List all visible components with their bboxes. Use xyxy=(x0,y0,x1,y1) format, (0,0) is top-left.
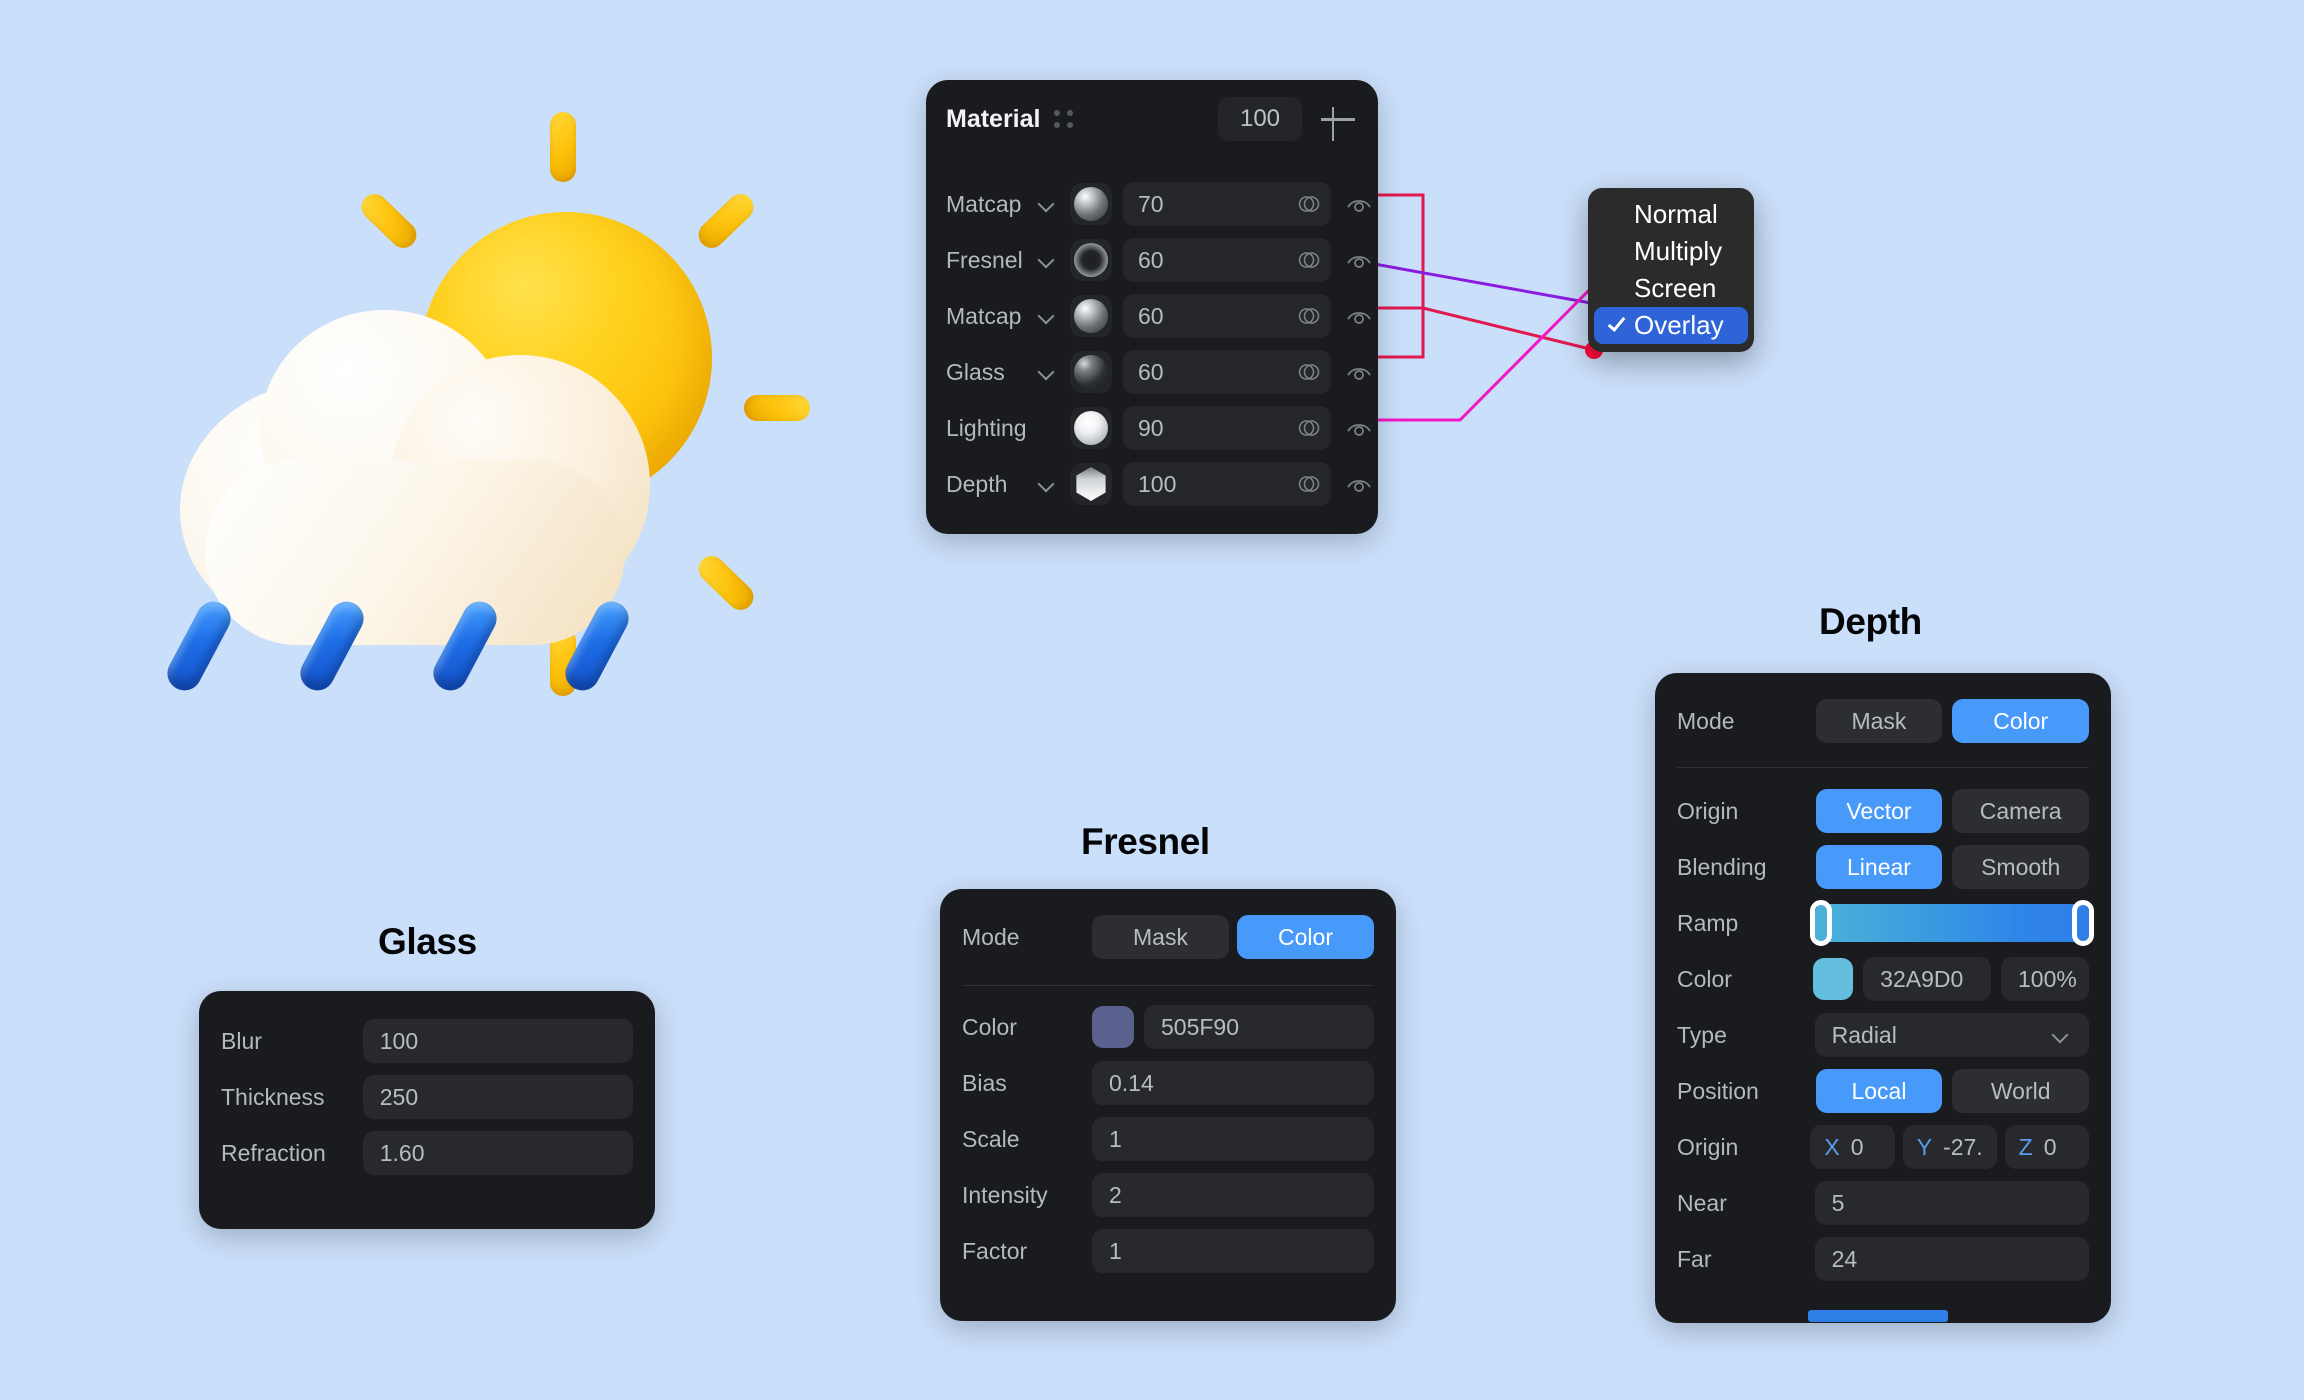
cloud-lobe xyxy=(205,460,625,645)
color-opacity-input[interactable]: 100% xyxy=(2001,957,2089,1001)
fresnel-mode-row: Mode Mask Color xyxy=(962,915,1374,959)
axis-label-y: Y xyxy=(1917,1134,1932,1161)
eye-icon[interactable] xyxy=(1345,302,1373,330)
material-row[interactable]: Fresnel 60 xyxy=(926,232,1378,288)
row-label: Color xyxy=(962,1014,1092,1041)
blend-mode-dropdown-menu[interactable]: Normal Multiply Screen Overlay xyxy=(1588,188,1754,352)
row-label: Intensity xyxy=(962,1182,1092,1209)
mode-option-color[interactable]: Color xyxy=(1952,699,2089,743)
origin-option-camera[interactable]: Camera xyxy=(1952,789,2089,833)
row-label: Factor xyxy=(962,1238,1092,1265)
row-label: Thickness xyxy=(221,1084,363,1111)
material-preview-sphere[interactable] xyxy=(1070,407,1112,449)
checkmark-icon xyxy=(1608,313,1626,332)
material-row[interactable]: Glass 60 xyxy=(926,344,1378,400)
row-label: Blending xyxy=(1677,854,1816,881)
menu-item-screen[interactable]: Screen xyxy=(1588,270,1754,307)
menu-item-multiply[interactable]: Multiply xyxy=(1588,233,1754,270)
material-row[interactable]: Depth 100 xyxy=(926,456,1378,512)
panel-title: Material xyxy=(946,105,1040,134)
chevron-down-icon[interactable] xyxy=(1036,361,1058,383)
fresnel-bias-row: Bias 0.14 xyxy=(962,1061,1374,1105)
blend-mode-icon[interactable] xyxy=(1297,472,1321,496)
chevron-down-icon[interactable] xyxy=(2050,1024,2072,1046)
depth-color-row: Color 32A9D0 100% xyxy=(1677,957,2089,1001)
material-preview-sphere[interactable] xyxy=(1070,183,1112,225)
depth-section-title: Depth xyxy=(1819,601,1922,643)
sun-ray xyxy=(550,112,576,182)
row-label: Mode xyxy=(1677,708,1816,735)
fresnel-scale-row: Scale 1 xyxy=(962,1117,1374,1161)
drag-handle-icon[interactable] xyxy=(1054,108,1074,130)
material-row-value[interactable]: 60 xyxy=(1123,350,1331,394)
thickness-input[interactable]: 250 xyxy=(363,1075,633,1119)
eye-icon[interactable] xyxy=(1345,470,1373,498)
material-row[interactable]: Matcap 70 xyxy=(926,176,1378,232)
color-swatch[interactable] xyxy=(1092,1006,1134,1048)
chevron-down-icon[interactable] xyxy=(1036,249,1058,271)
fresnel-section-title: Fresnel xyxy=(1081,821,1210,863)
clipped-blue-element xyxy=(1808,1310,1948,1322)
blend-mode-icon[interactable] xyxy=(1297,304,1321,328)
sun-ray xyxy=(693,189,759,254)
sun-ray xyxy=(744,395,810,421)
eye-icon[interactable] xyxy=(1345,358,1373,386)
color-swatch[interactable] xyxy=(1813,958,1853,1000)
row-label: Scale xyxy=(962,1126,1092,1153)
glass-row-thickness[interactable]: Thickness 250 xyxy=(221,1075,633,1119)
material-row[interactable]: Matcap 60 xyxy=(926,288,1378,344)
origin-y-value: -27. xyxy=(1943,1134,1983,1161)
material-row-label: Depth xyxy=(946,471,1032,498)
origin-z-value: 0 xyxy=(2044,1134,2057,1161)
row-label: Far xyxy=(1677,1246,1815,1273)
position-option-local[interactable]: Local xyxy=(1816,1069,1943,1113)
depth-position-row: Position Local World xyxy=(1677,1069,2089,1113)
eye-icon[interactable] xyxy=(1345,414,1373,442)
menu-item-label: Normal xyxy=(1634,199,1718,230)
ramp-stop-handle-end[interactable] xyxy=(2072,900,2094,946)
menu-item-label: Overlay xyxy=(1634,310,1724,341)
row-label: Near xyxy=(1677,1190,1815,1217)
material-panel-header: Material xyxy=(926,80,1378,158)
blend-mode-icon[interactable] xyxy=(1297,248,1321,272)
value-text: 60 xyxy=(1138,303,1164,330)
glass-panel: Blur 100 Thickness 250 Refraction 1.60 xyxy=(199,991,655,1229)
material-row-value[interactable]: 100 xyxy=(1123,462,1331,506)
row-label: Bias xyxy=(962,1070,1092,1097)
chevron-down-icon[interactable] xyxy=(1036,473,1058,495)
sun-ray xyxy=(356,189,422,254)
row-label: Ramp xyxy=(1677,910,1815,937)
menu-item-label: Multiply xyxy=(1634,236,1722,267)
divider xyxy=(1677,767,2089,768)
near-input[interactable]: 5 xyxy=(1815,1181,2089,1225)
position-option-world[interactable]: World xyxy=(1952,1069,2089,1113)
gradient-ramp-slider[interactable] xyxy=(1815,904,2089,942)
material-preview-sphere[interactable] xyxy=(1070,351,1112,393)
material-preview-sphere[interactable] xyxy=(1070,295,1112,337)
far-input[interactable]: 24 xyxy=(1815,1237,2089,1281)
origin-y-input[interactable]: Y -27. xyxy=(1903,1125,1997,1169)
material-row-value[interactable]: 70 xyxy=(1123,182,1331,226)
blend-mode-icon[interactable] xyxy=(1297,416,1321,440)
material-row-value[interactable]: 90 xyxy=(1123,406,1331,450)
raindrop xyxy=(161,596,236,697)
row-label: Refraction xyxy=(221,1140,363,1167)
row-label: Origin xyxy=(1677,798,1816,825)
material-row-value[interactable]: 60 xyxy=(1123,238,1331,282)
depth-mode-row: Mode Mask Color xyxy=(1677,699,2089,743)
mode-option-color[interactable]: Color xyxy=(1237,915,1374,959)
row-label: Position xyxy=(1677,1078,1816,1105)
material-row-label: Matcap xyxy=(946,303,1032,330)
value-text: 100 xyxy=(1138,471,1176,498)
color-hex-input[interactable]: 505F90 xyxy=(1144,1005,1374,1049)
origin-x-input[interactable]: X 0 xyxy=(1810,1125,1894,1169)
mode-option-mask[interactable]: Mask xyxy=(1816,699,1943,743)
fresnel-color-row: Color 505F90 xyxy=(962,1005,1374,1049)
fresnel-factor-row: Factor 1 xyxy=(962,1229,1374,1273)
fresnel-intensity-row: Intensity 2 xyxy=(962,1173,1374,1217)
value-text: 90 xyxy=(1138,415,1164,442)
eye-icon[interactable] xyxy=(1345,190,1373,218)
depth-origin-space-row: Origin Vector Camera xyxy=(1677,789,2089,833)
menu-item-normal[interactable]: Normal xyxy=(1588,196,1754,233)
row-label: Blur xyxy=(221,1028,363,1055)
depth-ramp-row: Ramp xyxy=(1677,901,2089,945)
axis-label-x: X xyxy=(1824,1134,1839,1161)
material-row-label: Fresnel xyxy=(946,247,1032,274)
value-text: 60 xyxy=(1138,359,1164,386)
material-preview-sphere[interactable] xyxy=(1070,239,1112,281)
chevron-down-icon[interactable] xyxy=(1036,193,1058,215)
origin-z-input[interactable]: Z 0 xyxy=(2005,1125,2089,1169)
row-label: Type xyxy=(1677,1022,1815,1049)
row-label: Color xyxy=(1677,966,1813,993)
color-hex-input[interactable]: 32A9D0 xyxy=(1863,957,1991,1001)
blend-mode-icon[interactable] xyxy=(1297,192,1321,216)
bias-input[interactable]: 0.14 xyxy=(1092,1061,1374,1105)
menu-item-label: Screen xyxy=(1634,273,1716,304)
glass-section-title: Glass xyxy=(378,921,477,963)
value-text: 60 xyxy=(1138,247,1164,274)
depth-origin-row: Origin X 0 Y -27. Z 0 xyxy=(1677,1125,2089,1169)
material-row-value[interactable]: 60 xyxy=(1123,294,1331,338)
fresnel-panel: Mode Mask Color Color 505F90 Bias 0.14 S… xyxy=(940,889,1396,1321)
depth-blending-row: Blending Linear Smooth xyxy=(1677,845,2089,889)
row-label: Mode xyxy=(962,924,1092,951)
scale-input[interactable]: 1 xyxy=(1092,1117,1374,1161)
eye-icon[interactable] xyxy=(1345,246,1373,274)
material-preview-sphere[interactable] xyxy=(1070,463,1112,505)
chevron-down-icon[interactable] xyxy=(1036,305,1058,327)
sun-ray xyxy=(693,551,759,616)
blending-option-linear[interactable]: Linear xyxy=(1816,845,1943,889)
depth-panel: Mode Mask Color Origin Vector Camera Ble… xyxy=(1655,673,2111,1323)
menu-item-overlay[interactable]: Overlay xyxy=(1594,307,1748,344)
type-value: Radial xyxy=(1832,1022,1897,1049)
depth-near-row: Near 5 xyxy=(1677,1181,2089,1225)
plus-icon[interactable] xyxy=(1316,97,1360,141)
sun-behind-rain-cloud-illustration xyxy=(150,80,850,700)
value-text: 70 xyxy=(1138,191,1164,218)
material-row-label: Matcap xyxy=(946,191,1032,218)
glass-row-refraction[interactable]: Refraction 1.60 xyxy=(221,1131,633,1175)
material-row[interactable]: Lighting 90 xyxy=(926,400,1378,456)
blur-input[interactable]: 100 xyxy=(363,1019,633,1063)
origin-x-value: 0 xyxy=(1851,1134,1864,1161)
depth-type-row: Type Radial xyxy=(1677,1013,2089,1057)
origin-option-vector[interactable]: Vector xyxy=(1816,789,1943,833)
factor-input[interactable]: 1 xyxy=(1092,1229,1374,1273)
row-label: Origin xyxy=(1677,1134,1810,1161)
blending-option-smooth[interactable]: Smooth xyxy=(1952,845,2089,889)
material-row-label: Glass xyxy=(946,359,1032,386)
axis-label-z: Z xyxy=(2019,1134,2033,1161)
divider xyxy=(962,985,1374,986)
refraction-input[interactable]: 1.60 xyxy=(363,1131,633,1175)
canvas: Material 100 Matcap 70 Fresnel xyxy=(0,0,2304,1400)
intensity-input[interactable]: 2 xyxy=(1092,1173,1374,1217)
ramp-stop-handle-start[interactable] xyxy=(1810,900,1832,946)
blend-mode-icon[interactable] xyxy=(1297,360,1321,384)
material-row-label: Lighting xyxy=(946,415,1032,442)
material-panel: Material 100 Matcap 70 Fresnel xyxy=(926,80,1378,534)
type-select[interactable]: Radial xyxy=(1815,1013,2089,1057)
mode-option-mask[interactable]: Mask xyxy=(1092,915,1229,959)
depth-far-row: Far 24 xyxy=(1677,1237,2089,1281)
glass-row-blur[interactable]: Blur 100 xyxy=(221,1019,633,1063)
material-count-field[interactable]: 100 xyxy=(1218,97,1302,141)
